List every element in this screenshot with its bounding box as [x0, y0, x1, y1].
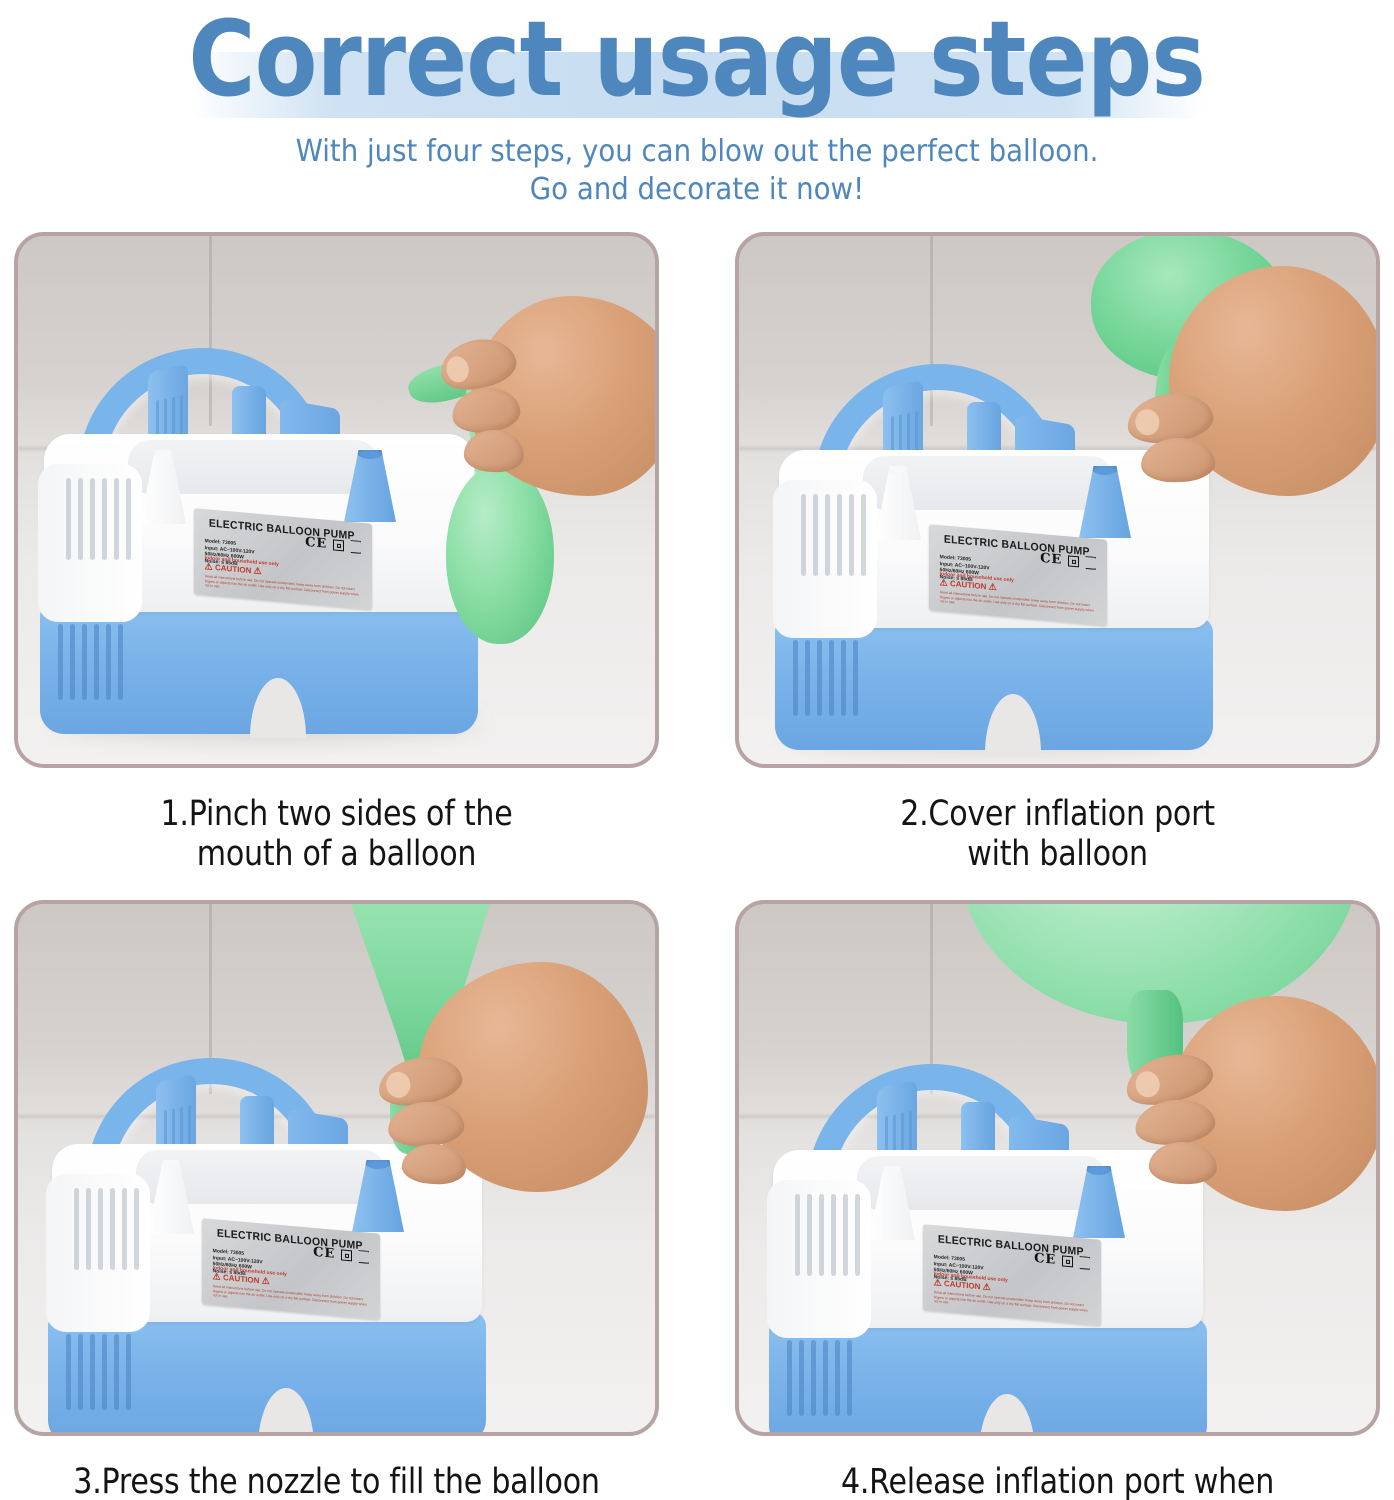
label-fine-print: Read all instructions before use. Do not… [205, 575, 362, 602]
body-vents [795, 1194, 860, 1276]
spec-label: ELECTRIC BALLOON PUMP CE Model: 73005 In… [202, 1218, 380, 1320]
step-cell-4: ELECTRIC BALLOON PUMP CE Model: 73005 In… [735, 900, 1380, 1500]
spec-label: ELECTRIC BALLOON PUMP CE Model: 73005 In… [929, 524, 1107, 626]
double-insulation-icon [333, 540, 344, 552]
hand [1169, 996, 1380, 1211]
weee-bin-icon [358, 1250, 369, 1264]
warning-triangle-icon: ⚠ [205, 562, 213, 573]
page-title-wrapper: Correct usage steps [0, 0, 1394, 118]
warning-triangle-icon-2: ⚠ [254, 566, 262, 577]
steps-row-bottom: ELECTRIC BALLOON PUMP CE Model: 73005 In… [14, 900, 1380, 1500]
ce-mark-icon: CE [1040, 551, 1062, 568]
double-insulation-icon [1068, 556, 1079, 568]
balloon-pump: ELECTRIC BALLOON PUMP CE Model: 73005 In… [773, 1150, 1203, 1436]
weee-bin-icon [1085, 556, 1096, 570]
weee-bin-icon [1079, 1256, 1090, 1270]
weee-bin-icon [350, 540, 361, 554]
body-vents [66, 478, 131, 560]
base-vents [66, 1334, 131, 1410]
base-vents [787, 1340, 852, 1416]
hand [418, 962, 648, 1192]
pump-body-white: ELECTRIC BALLOON PUMP CE Model: 73005 In… [779, 450, 1209, 628]
warning-triangle-icon: ⚠ [934, 1278, 942, 1289]
ce-mark-icon: CE [305, 535, 327, 552]
base-vents [58, 624, 123, 700]
ce-mark-icon: CE [313, 1245, 335, 1262]
step-caption-2: 2.Cover inflation port with balloon [780, 794, 1335, 874]
step-caption-3: 3.Press the nozzle to fill the balloon [59, 1462, 614, 1500]
step-cell-2: ELECTRIC BALLOON PUMP CE Model: 73005 In… [735, 232, 1380, 874]
spec-label: ELECTRIC BALLOON PUMP CE Model: 73005 In… [194, 508, 372, 610]
subtitle-line-2: Go and decorate it now! [56, 172, 1338, 208]
double-insulation-icon [341, 1250, 352, 1262]
label-fine-print: Read all instructions before use. Do not… [940, 591, 1097, 618]
pump-body-white: ELECTRIC BALLOON PUMP CE Model: 73005 In… [773, 1150, 1203, 1328]
subtitle-line-1: With just four steps, you can blow out t… [56, 134, 1338, 170]
balloon-pump: ELECTRIC BALLOON PUMP CE Model: 73005 In… [52, 1144, 482, 1436]
warning-triangle-icon-2: ⚠ [262, 1276, 270, 1287]
base-vents [793, 640, 858, 716]
steps-grid: ELECTRIC BALLOON PUMP CE Model: 73005 In… [0, 232, 1394, 1500]
pump-body-white: ELECTRIC BALLOON PUMP CE Model: 73005 In… [44, 434, 474, 612]
double-insulation-icon [1062, 1256, 1073, 1268]
body-vents [74, 1188, 139, 1270]
warning-triangle-icon: ⚠ [213, 1272, 221, 1283]
balloon-pump: ELECTRIC BALLOON PUMP CE Model: 73005 In… [44, 434, 474, 734]
warning-triangle-icon-2: ⚠ [983, 1282, 991, 1293]
label-fine-print: Read all instructions before use. Do not… [934, 1291, 1091, 1318]
warning-triangle-icon-2: ⚠ [989, 582, 997, 593]
step-photo-1: ELECTRIC BALLOON PUMP CE Model: 73005 In… [14, 232, 659, 768]
step-caption-1: 1.Pinch two sides of the mouth of a ball… [59, 794, 614, 874]
page-title: Correct usage steps [189, 7, 1206, 111]
warning-triangle-icon: ⚠ [940, 578, 948, 589]
ce-mark-icon: CE [1034, 1251, 1056, 1268]
step-photo-3: ELECTRIC BALLOON PUMP CE Model: 73005 In… [14, 900, 659, 1436]
balloon-pump: ELECTRIC BALLOON PUMP CE Model: 73005 In… [779, 450, 1209, 750]
spec-label: ELECTRIC BALLOON PUMP CE Model: 73005 In… [923, 1224, 1101, 1326]
body-vents [801, 494, 866, 576]
steps-row-top: ELECTRIC BALLOON PUMP CE Model: 73005 In… [14, 232, 1380, 874]
step-cell-3: ELECTRIC BALLOON PUMP CE Model: 73005 In… [14, 900, 659, 1500]
header: Correct usage steps With just four steps… [0, 0, 1394, 232]
step-photo-2: ELECTRIC BALLOON PUMP CE Model: 73005 In… [735, 232, 1380, 768]
step-cell-1: ELECTRIC BALLOON PUMP CE Model: 73005 In… [14, 232, 659, 874]
step-caption-4: 4.Release inflation port when balloon si… [780, 1462, 1335, 1500]
step-photo-4: ELECTRIC BALLOON PUMP CE Model: 73005 In… [735, 900, 1380, 1436]
hand [1169, 266, 1380, 496]
label-fine-print: Read all instructions before use. Do not… [213, 1285, 370, 1312]
